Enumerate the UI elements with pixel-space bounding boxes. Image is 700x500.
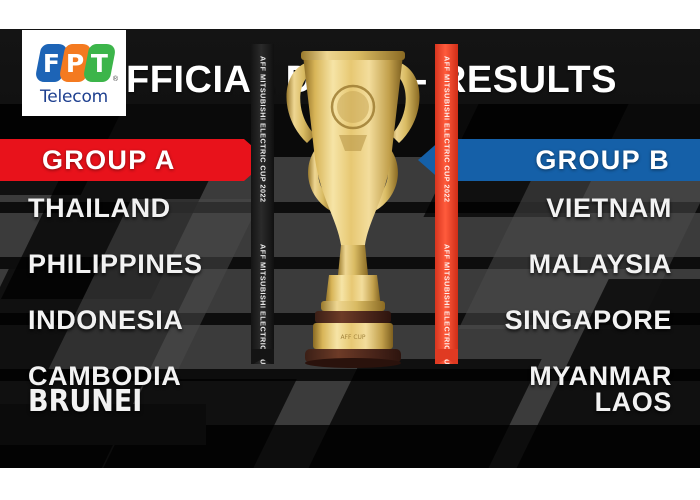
group-a-banner[interactable]: GROUP A [0,139,268,181]
trophy-icon: AFF CUP [273,39,433,369]
fpt-letter-f: F [43,50,60,75]
registered-mark-icon: ® [113,76,118,83]
draw-results-graphic: OFFICIAL DRAW - RESULTS GROUP A GROUP B … [0,0,700,500]
ribbon-right-text-2: AFF MITSUBISHI ELECTRIC CUP 2022 [442,244,451,364]
frame-bottom-band [0,468,700,500]
frame-top-band [0,0,700,29]
fpt-letter-p: P [66,50,84,75]
fpt-telecom-wordmark: Telecom [40,87,108,107]
team-group-a-5: BRUNEI [28,387,142,417]
svg-text:AFF CUP: AFF CUP [340,334,365,341]
ribbon-left-text: AFF MITSUBISHI ELECTRIC CUP 2022 [258,56,267,202]
group-b-label: GROUP B [535,145,670,176]
fpt-logo-marks: F P T ® [38,42,110,84]
team-group-b-4: MYANMAR [529,363,672,390]
ribbon-left-text-2: AFF MITSUBISHI ELECTRIC CUP 2022 [258,244,267,364]
team-group-a-3: INDONESIA [28,307,183,334]
group-a-label: GROUP A [42,145,176,176]
team-group-b-3: SINGAPORE [505,307,672,334]
ribbon-right-text: AFF MITSUBISHI ELECTRIC CUP 2022 [442,56,451,202]
team-group-a-2: PHILIPPINES [28,251,203,278]
fpt-letter-t: T [91,50,108,75]
fpt-telecom-logo: F P T ® Telecom [22,30,126,116]
team-group-b-2: MALAYSIA [529,251,672,278]
ribbon-left: AFF MITSUBISHI ELECTRIC CUP 2022 AFF MIT… [251,44,274,364]
trophy-group: AFF MITSUBISHI ELECTRIC CUP 2022 AFF MIT… [238,29,468,468]
ribbon-right: AFF MITSUBISHI ELECTRIC CUP 2022 AFF MIT… [435,44,458,364]
team-group-b-5: LAOS [595,389,672,416]
team-group-b-1: VIETNAM [546,195,672,222]
team-group-a-1: THAILAND [28,195,171,222]
